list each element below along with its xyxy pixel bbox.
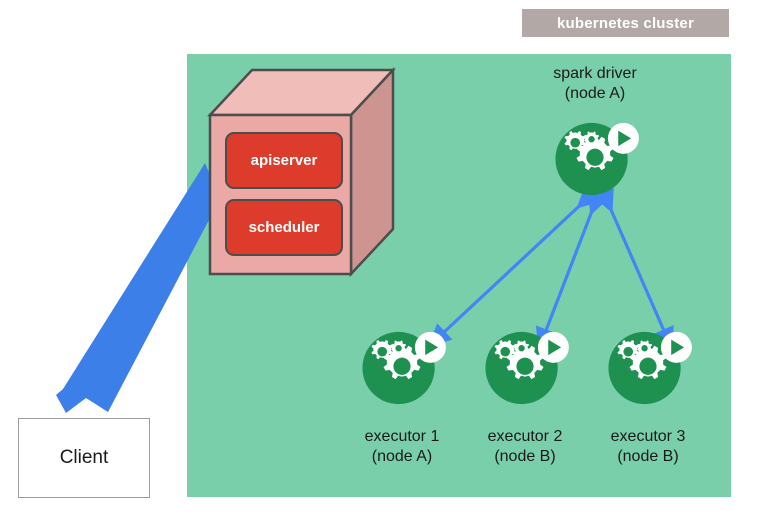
gear-medium-hub	[570, 138, 580, 148]
gear-large-hub	[393, 358, 410, 375]
client-label: Client	[60, 447, 109, 469]
executor-3-node: (node B)	[573, 447, 723, 467]
gear-large-hub	[586, 149, 603, 166]
gear-small-hub	[641, 345, 647, 351]
gear-medium-hub	[623, 347, 633, 357]
apiserver-component[interactable]: apiserver	[225, 132, 343, 189]
executor-2-icon[interactable]	[482, 325, 568, 411]
scheduler-component[interactable]: scheduler	[225, 199, 343, 256]
executor-3-title: executor 3	[573, 427, 723, 447]
spark-driver-title: spark driver	[520, 64, 670, 84]
gear-small-hub	[395, 345, 401, 351]
spark-driver-icon[interactable]	[552, 116, 638, 202]
executor-3-icon[interactable]	[605, 325, 691, 411]
gear-medium-hub	[377, 347, 387, 357]
gear-medium-hub	[500, 347, 510, 357]
spark-driver-node: (node A)	[520, 84, 670, 104]
executor-1-icon[interactable]	[359, 325, 445, 411]
gear-small-hub	[588, 136, 594, 142]
gear-small-hub	[518, 345, 524, 351]
control-plane-cube: apiserver scheduler	[200, 62, 400, 284]
gear-large-hub	[516, 358, 533, 375]
cluster-label-banner: kubernetes cluster	[522, 9, 729, 37]
spark-driver-caption: spark driver (node A)	[520, 64, 670, 104]
client-box[interactable]: Client	[18, 418, 150, 498]
gear-large-hub	[639, 358, 656, 375]
diagram-canvas: kubernetes cluster spark-submit apiserve…	[0, 0, 761, 516]
executor-3-caption: executor 3 (node B)	[573, 427, 723, 467]
